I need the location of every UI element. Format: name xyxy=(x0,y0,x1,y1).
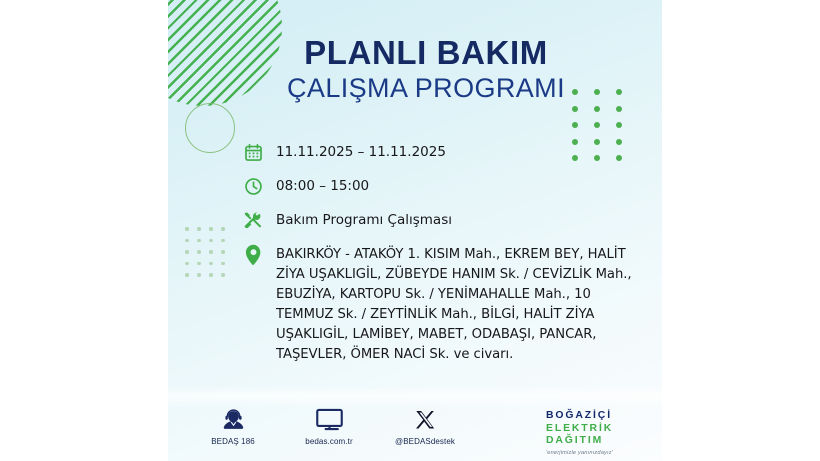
title-line-1: PLANLI BAKIM xyxy=(208,36,644,71)
brand-line-2: ELEKTRİK xyxy=(546,423,642,436)
page-title: PLANLI BAKIM ÇALIŞMA PROGRAMI xyxy=(168,36,662,104)
brand-line-3: DAĞITIM xyxy=(546,435,642,448)
detail-row-date: 11.11.2025 – 11.11.2025 xyxy=(242,141,642,163)
detail-row-time: 08:00 – 15:00 xyxy=(242,175,642,197)
detail-row-address: BAKIRKÖY - ATAKÖY 1. KISIM Mah., EKREM B… xyxy=(242,243,642,365)
x-twitter-icon xyxy=(388,406,462,434)
poster-page: PLANLI BAKIM ÇALIŞMA PROGRAMI xyxy=(0,0,820,461)
tools-icon xyxy=(242,209,264,231)
brand-tagline: 'enerjimizle yanınızdayız' xyxy=(546,450,642,456)
contact-website[interactable]: bedas.com.tr xyxy=(292,406,366,446)
contact-social[interactable]: @BEDASdestek xyxy=(388,406,462,446)
monitor-icon xyxy=(292,406,366,434)
bedas-logo: BOĞAZİÇİ ELEKTRİK DAĞITIM 'enerjimizle y… xyxy=(546,410,642,456)
location-pin-icon xyxy=(242,244,264,266)
contact-phone[interactable]: BEDAŞ 186 xyxy=(196,406,270,446)
footer-contacts: BEDAŞ 186 bedas.com.tr xyxy=(196,406,462,446)
notice-details: 11.11.2025 – 11.11.2025 08:00 – 15:00 xyxy=(242,141,642,365)
maintenance-notice-card: PLANLI BAKIM ÇALIŞMA PROGRAMI xyxy=(168,0,662,461)
contact-social-label: @BEDASdestek xyxy=(388,437,462,446)
contact-phone-label: BEDAŞ 186 xyxy=(196,437,270,446)
detail-row-worktype: Bakım Programı Çalışması xyxy=(242,209,642,231)
title-line-2: ÇALIŞMA PROGRAMI xyxy=(208,74,644,104)
calendar-icon xyxy=(242,141,264,163)
support-agent-icon xyxy=(196,406,270,434)
brand-line-1: BOĞAZİÇİ xyxy=(546,410,642,423)
work-type-text: Bakım Programı Çalışması xyxy=(276,209,452,229)
dot-grid-left-decoration xyxy=(185,227,233,285)
address-text: BAKIRKÖY - ATAKÖY 1. KISIM Mah., EKREM B… xyxy=(276,243,642,365)
date-range-text: 11.11.2025 – 11.11.2025 xyxy=(276,141,446,161)
clock-icon xyxy=(242,175,264,197)
circle-outline-decoration xyxy=(185,103,235,153)
contact-website-label: bedas.com.tr xyxy=(292,437,366,446)
time-range-text: 08:00 – 15:00 xyxy=(276,175,369,195)
